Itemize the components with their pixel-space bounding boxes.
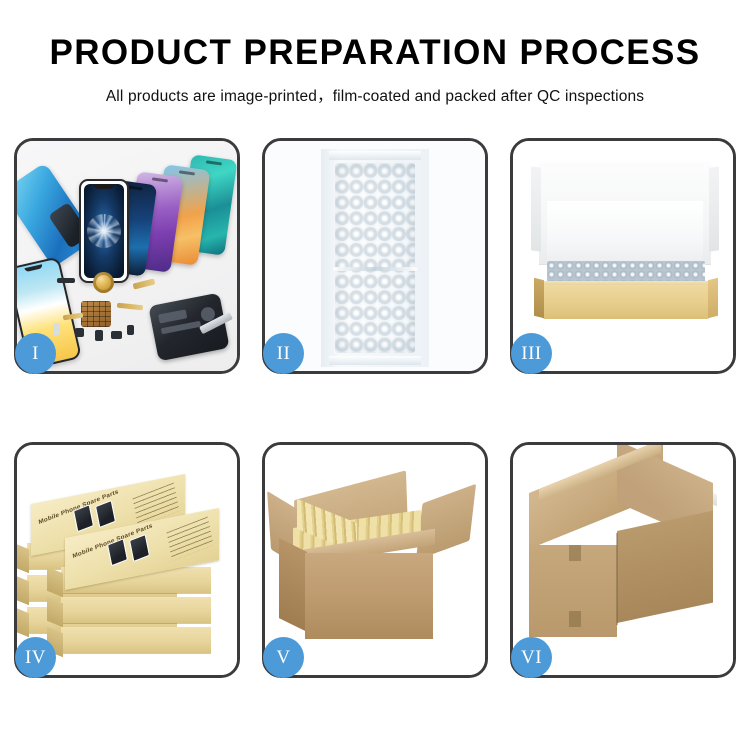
step-image-stacked-retail-boxes: Mobile Phone Spare Parts Mobile Phone Sp… bbox=[17, 445, 237, 675]
header: PRODUCT PREPARATION PROCESS All products… bbox=[0, 0, 750, 106]
carton-flap-right bbox=[416, 484, 476, 560]
sealed-carton-side-face bbox=[617, 511, 713, 623]
part-chip-1 bbox=[57, 278, 75, 283]
retail-box-front-2 bbox=[61, 597, 211, 623]
step-badge-6: VI bbox=[511, 637, 552, 678]
product-preparation-infographic: PRODUCT PREPARATION PROCESS All products… bbox=[0, 0, 750, 750]
step-panel-5: V bbox=[262, 442, 488, 678]
carton-seam-upper bbox=[569, 545, 581, 561]
step-panel-1: I bbox=[14, 138, 240, 374]
mailer-foam-sheet bbox=[547, 201, 703, 263]
step-image-sealed-carton bbox=[513, 445, 733, 675]
carton-left-face bbox=[279, 538, 307, 632]
step-badge-5: V bbox=[263, 637, 304, 678]
pouch-top-seal bbox=[329, 151, 421, 160]
bubble-wrap-texture bbox=[335, 163, 415, 353]
bubble-wrap-pouch bbox=[321, 149, 429, 367]
step-panel-6: VI bbox=[510, 442, 736, 678]
pouch-fold-line bbox=[333, 267, 417, 271]
phone-chassis-disassembled bbox=[148, 293, 229, 362]
retail-box-stack: Mobile Phone Spare Parts Mobile Phone Sp… bbox=[25, 471, 237, 669]
part-chip-4 bbox=[111, 331, 122, 339]
retail-box-front-3 bbox=[61, 627, 211, 653]
step-badge-2: II bbox=[263, 333, 304, 374]
page-subtitle: All products are image-printed，film-coat… bbox=[0, 84, 750, 106]
carton-seam-lower bbox=[569, 611, 581, 627]
step-badge-3: III bbox=[511, 333, 552, 374]
step-badge-1: I bbox=[15, 333, 56, 374]
step-image-open-mailer-box bbox=[513, 141, 733, 371]
mailer-front-kraft bbox=[543, 285, 709, 319]
step-image-products-and-parts bbox=[17, 141, 237, 371]
part-chip-5 bbox=[127, 325, 134, 335]
carton-edge-line bbox=[616, 533, 618, 625]
step-image-bubble-wrapped-item bbox=[265, 141, 485, 371]
part-chip-2 bbox=[75, 328, 84, 337]
part-chip-6 bbox=[53, 323, 60, 335]
part-copper-coil bbox=[93, 272, 114, 293]
process-steps-grid: I II III bbox=[14, 138, 736, 690]
step-panel-4: Mobile Phone Spare Parts Mobile Phone Sp… bbox=[14, 442, 240, 678]
page-title: PRODUCT PREPARATION PROCESS bbox=[0, 34, 750, 73]
part-flex-cable-1 bbox=[133, 278, 156, 289]
part-flex-cable-2 bbox=[117, 303, 143, 311]
pouch-bottom-seal bbox=[329, 356, 421, 365]
part-chip-3 bbox=[95, 330, 103, 341]
step-panel-2: II bbox=[262, 138, 488, 374]
carton-front-face bbox=[305, 553, 433, 639]
part-screw-tray bbox=[81, 301, 111, 327]
step-badge-4: IV bbox=[15, 637, 56, 678]
screen-protector-glass bbox=[79, 179, 129, 283]
step-image-open-carton-filled bbox=[265, 445, 485, 675]
step-panel-3: III bbox=[510, 138, 736, 374]
